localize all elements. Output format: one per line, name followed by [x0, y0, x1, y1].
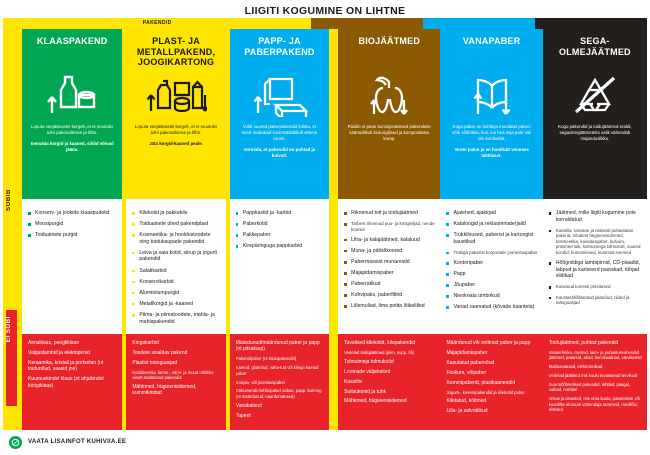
list-item: Kirepäringuga pappkarbid	[236, 243, 324, 250]
list-item: Mähkmed, hügieenisidemed, kummikindad	[132, 384, 220, 397]
list-item: Suurmõõtmelised pakendid, riihtlad, paag…	[549, 382, 642, 393]
column-title: VANAPABER	[446, 36, 536, 68]
list-item: Kohvipaks, paberfiltrid	[344, 292, 435, 299]
suitable-list-vanapaber: Ajalehed, ajakirjad Kataloogid ja reklaa…	[440, 199, 542, 334]
list-item: Lillemullad, ilma potita lõikelilled	[344, 303, 435, 310]
list-item: Riknenud toit ja toidujäätmed	[344, 210, 435, 217]
column-plast-metall: PLAST- JA METALLPAKEND, JOOGIKARTONG	[126, 29, 225, 430]
side-label-text: EI SOBI	[6, 316, 17, 342]
footer-link-text[interactable]: VAATA LISAINFOT KUHIVIIA.EE	[28, 439, 126, 445]
not-suitable-list-plast-metall: Kingakarbid Toodete sisaldav pakend Plas…	[126, 334, 225, 430]
list-item: Konservikarbid	[132, 279, 220, 286]
hero-papp-paber: PAPP- JA PABERPAKEND Voldi suured paberp…	[230, 29, 329, 199]
list-item: Majapidamispaber	[344, 270, 435, 277]
list-item: Kingakarbid	[132, 340, 220, 346]
open-book-icon	[446, 72, 536, 118]
list-item: Pabermassist munarestid	[344, 259, 435, 266]
hero-description: Loputa veejäänustel kergelt, et ei muutu…	[132, 124, 219, 147]
hero-plast-metall: PLAST- JA METALLPAKEND, JOOGIKARTONG	[126, 29, 225, 199]
suitable-list-plast-metall: Kilekotid ja pakkekile Toiduainete ühed …	[126, 199, 225, 334]
hero-description: Riiulile ei pane komisjonäärsed pakendei…	[344, 124, 434, 142]
hero-notch	[483, 194, 501, 199]
column-title: SEGA-OLMEJÄÄTMED	[549, 36, 641, 68]
items: Määrdunud või vettinud paber ja papp Maj…	[446, 340, 537, 415]
recycle-circle-logo	[9, 436, 22, 449]
list-item: Foolium, võipaber	[446, 370, 537, 376]
list-item: Kommipaberid, plastkaanendid	[446, 380, 537, 386]
column-vanapaber: VANAPABER Kogu paber on kohtleja mundate…	[440, 29, 542, 430]
list-item: Dokumendi-/arhiivipaber sabas, papp, kar…	[236, 388, 324, 399]
banner-filler	[311, 18, 647, 29]
hero-klaaspakend: KLAASPAKEND Loputa veejäänustel kergelt,…	[22, 29, 122, 199]
list-item: Määrdunud/määrdunud paber ja papp (nt pi…	[236, 340, 324, 353]
desc-line-1: Kogu pakendid ja toidujäätmed eraldi, se…	[551, 124, 639, 142]
column-title: PLAST- JA METALLPAKEND, JOOGIKARTONG	[132, 36, 219, 68]
apple-core-icon	[344, 72, 434, 118]
column-biojaatmed: BIOJÄÄTMED Riiulile ei pane komisjonäärs…	[338, 29, 440, 430]
list-item: Kaetud, glabritud, vaha-tud või kilega k…	[236, 365, 324, 376]
list-item: Paberkotid	[236, 221, 324, 228]
list-item: Piima- ja piimatoodete, mahla- ja mahlap…	[132, 312, 220, 325]
list-item: Paberrätikud	[344, 281, 435, 288]
column-title: PAPP- JA PABERPAKEND	[236, 36, 323, 68]
no-recycling-icon	[549, 72, 641, 118]
list-item: Plastist mänguasjad	[132, 360, 220, 366]
column-title: BIOJÄÄTMED	[344, 36, 434, 68]
list-item: Kontoripaber	[446, 260, 537, 267]
desc-line-1: Kogu paber on kohtleja mundatel paberi v…	[448, 124, 534, 142]
hero-description: Kogu pakendid ja toidujäätmed eraldi, se…	[549, 124, 641, 142]
packaging-banner-label: PAKENDID	[3, 18, 311, 29]
items: Kingakarbid Toodete sisaldav pakend Plas…	[132, 340, 220, 397]
list-item: Muna- ja pähklikoored	[344, 248, 435, 255]
list-item: Nieoknata ümbrikud	[446, 293, 537, 300]
list-item: Jäätmed, mille liigiti kogumine pole kor…	[549, 210, 642, 223]
list-item: Ahnat ja ainasted, mis oma kuulu, patare…	[549, 396, 642, 412]
list-item: Tolmuimeja tolmukotid	[344, 359, 435, 365]
list-item: Toidujäätmed, puhtad pakendid	[549, 340, 642, 346]
items: Määrdunud/määrdunud paber ja papp (nt pi…	[236, 340, 324, 419]
hero-description: Loputa veejäänustel kergelt, et ei muutu…	[28, 124, 116, 153]
list-item: Kassiliiv, rasvane ja raskesti puhastata…	[549, 228, 642, 256]
list-item: Kaustastikõllanatud jalanõud, riided ja …	[549, 295, 642, 306]
desc-line-1: Riiulile ei pane komisjonäärsed pakendei…	[346, 124, 432, 142]
list-item: Toiduainete purgid	[28, 232, 117, 239]
banner-paper	[423, 18, 535, 29]
column-klaaspakend: KLAASPAKEND Loputa veejäänustel kergelt,…	[22, 29, 122, 430]
list-item: Kasutatud pabernõud	[446, 360, 537, 366]
list-item: Kosmeetika- ja hooldustoodete ning toidu…	[132, 232, 220, 245]
list-item: Pakendipaber (nt toidupakendid)	[236, 356, 324, 361]
column-sega-olmejaatmed: SEGA-OLMEJÄÄTMED Kogu pakendid ja toiduj…	[543, 29, 647, 430]
category-columns: KLAASPAKEND Loputa veejäänustel kergelt,…	[3, 29, 647, 430]
list-item: Jõupaber	[446, 282, 537, 289]
list-item: Papp	[446, 271, 537, 278]
desc-line-2: Vormi palun ja en hoolikalt venoses laht…	[448, 147, 534, 159]
list-item: Keraamika, kristall ja portselan (nt toi…	[28, 360, 117, 373]
list-item: Kuivanud lumesti pritsitused	[549, 284, 642, 290]
list-item: Pappkastid ja -karbid	[236, 210, 324, 217]
hero-notch	[586, 194, 604, 199]
list-item: Kassiliiv	[344, 379, 435, 385]
suitable-list-sega-olmejaatmed: Jäätmed, mille liigiti kogumine pole kor…	[543, 199, 647, 334]
hero-notch	[167, 194, 185, 199]
list-item: Liha- ja kalajäätmed, kalaluud	[344, 237, 435, 244]
suitable-list-biojaatmed: Riknenud toit ja toidujäätmed Tarbest ri…	[338, 199, 440, 334]
list-item: Konserv- ja jookide klaaspudelid	[28, 210, 117, 217]
hero-notch	[380, 194, 398, 199]
list-item: Vanatehnika, ravimid, taim- ja puhastusv…	[549, 350, 642, 361]
plastic-metal-carton-icon	[132, 72, 219, 118]
list-item: Koopia- või joonistuspaber	[236, 380, 324, 385]
list-item: Määrdunud või vettinud paber ja papp	[446, 340, 537, 346]
not-suitable-list-vanapaber: Määrdunud või vettinud paber ja papp Maj…	[440, 334, 542, 430]
suitable-list-papp-paber: Pappkastid ja -karbid Paberkotid Pakkepa…	[230, 199, 329, 334]
footer: VAATA LISAINFOT KUHIVIIA.EE	[3, 432, 647, 452]
list-item: Lilla- ja salvrätikud	[446, 408, 537, 414]
list-item: Tapeet	[236, 413, 324, 419]
list-item: Alumiiniumpurgid	[132, 290, 220, 297]
list-item: Tavalised kilekotid, kilepakendid	[344, 340, 435, 346]
desc-line-2: Vormida, et pakendid on puhtad ja kuivad…	[238, 147, 321, 159]
list-item: Kodukeemia, lamm-, värvi- ja muud ohtlik…	[132, 370, 220, 381]
list-item: Leiva ja saia kotid, siirup ja jogurti p…	[132, 250, 220, 263]
list-item: Vedelad jäätmed mis kuulu tuvastanud ter…	[549, 373, 642, 378]
banner-bio	[311, 18, 423, 29]
hero-notch	[270, 194, 288, 199]
list-item: Vanakalend	[236, 403, 324, 409]
items: Jäätmed, mille liigiti kogumine pole kor…	[549, 210, 642, 306]
items: Tavalised kilekotid, kilepakendid Vedela…	[344, 340, 435, 405]
suitable-list-klaaspakend: Konserv- ja jookide klaaspudelid Moosipu…	[22, 199, 122, 334]
banner-row: PAKENDID	[3, 18, 647, 29]
list-item: Jogurti-, kreemipakendid ja kilekotid pa…	[446, 390, 537, 395]
not-suitable-list-sega-olmejaatmed: Toidujäätmed, puhtad pakendid Vanatehnik…	[543, 334, 647, 430]
list-item: Trükiga paberist korporatiiv joonestuspa…	[446, 250, 537, 256]
column-title: KLAASPAKEND	[28, 36, 116, 68]
infographic-frame: PAKENDID KLAASPAKEND Lopu	[3, 18, 647, 430]
list-item: Pakkepaber	[236, 232, 324, 239]
list-item: Tarbest riknenud puu- ja köögiviljad, ne…	[344, 221, 435, 232]
list-item: Toodete sisaldav pakend	[132, 350, 220, 356]
items: Ajalehed, ajakirjad Kataloogid ja reklaa…	[446, 210, 537, 311]
list-item: Trükkihiused, paberist ja kartongist kau…	[446, 232, 537, 245]
cardboard-box-icon	[236, 72, 323, 118]
items: Riknenud toit ja toidujäätmed Tarbest ri…	[344, 210, 435, 310]
side-label-eisobi: EI SOBI	[6, 310, 17, 406]
items: Toidujäätmed, puhtad pakendid Vanatehnik…	[549, 340, 642, 413]
hero-vanapaber: VANAPABER Kogu paber on kohtleja mundate…	[440, 29, 542, 199]
list-item: Suitsukonid ja tuhk	[344, 389, 435, 395]
list-item: Vanad raamatud (kõvade kaanteta)	[446, 304, 537, 311]
hero-notch	[63, 194, 81, 199]
list-item: Toiduainete ühed pakendplast	[132, 221, 220, 228]
list-item: Loomade väljaheited	[344, 369, 435, 375]
not-suitable-list-biojaatmed: Tavalised kilekotid, kilepakendid Vedela…	[338, 334, 440, 430]
not-suitable-list-papp-paber: Määrdunud/määrdunud paber ja papp (nt pi…	[230, 334, 329, 430]
list-item: Valguslambid ja elektripirnid	[28, 350, 117, 356]
list-item: Salatikarbid	[132, 268, 220, 275]
items: Pappkastid ja -karbid Paberkotid Pakkepa…	[236, 210, 324, 250]
banner-mixed	[535, 18, 647, 29]
list-item: Aknaklaas, peegliklaas	[28, 340, 117, 346]
desc-line-2: Jäta korgid-kaaned peale.	[134, 141, 217, 147]
list-item: Mahtuvatavad, elektroonikad	[549, 364, 642, 369]
glass-bottle-jar-icon	[28, 72, 116, 118]
not-suitable-list-klaaspakend: Aknaklaas, peegliklaas Valguslambid ja e…	[22, 334, 122, 430]
column-papp-paber: PAPP- JA PABERPAKEND Voldi suured paberp…	[230, 29, 329, 430]
list-item: Kiletatud, köitmed	[446, 398, 537, 404]
desc-line-1: Voldi suured paberpakendid kokku, et nee…	[238, 124, 321, 142]
list-item: Majapidamispaber	[446, 350, 537, 356]
desc-line-2: Eemalda korgid ja kaaned, sildid võivad …	[30, 141, 114, 153]
list-item: Ajalehed, ajakirjad	[446, 210, 537, 217]
list-item: Hõõgniidiga lambipirnid, CD-plaadid, lab…	[549, 260, 642, 280]
desc-line-1: Loputa veejäänustel kergelt, et ei muutu…	[134, 124, 217, 136]
list-item: Kilekotid ja pakkekile	[132, 210, 220, 217]
items: Kilekotid ja pakkekile Toiduainete ühed …	[132, 210, 220, 325]
side-label-text: SOBIB	[6, 189, 17, 211]
list-item: Kuumuskindel klaas (nt ahjukindel köögik…	[28, 376, 117, 389]
desc-line-1: Loputa veejäänustel kergelt, et ei muutu…	[30, 124, 114, 136]
hero-description: Voldi suured paberpakendid kokku, et nee…	[236, 124, 323, 159]
list-item: Mähkmed, hügieenisidemed	[344, 398, 435, 404]
hero-sega-olmejaatmed: SEGA-OLMEJÄÄTMED Kogu pakendid ja toiduj…	[543, 29, 647, 199]
list-item: Moosipurgid	[28, 221, 117, 228]
list-item: Vedelad toidujäätmed (piim, supp, õli)	[344, 350, 435, 355]
items: Aknaklaas, peegliklaas Valguslambid ja e…	[28, 340, 117, 389]
list-item: Kataloogid ja reklaammaterjalid	[446, 221, 537, 228]
hero-biojaatmed: BIOJÄÄTMED Riiulile ei pane komisjonäärs…	[338, 29, 440, 199]
list-item: Metallkorgid ja -kaaned	[132, 301, 220, 308]
hero-description: Kogu paber on kohtleja mundatel paberi v…	[446, 124, 536, 159]
items: Konserv- ja jookide klaaspudelid Moosipu…	[28, 210, 117, 239]
side-label-sobib: SOBIB	[6, 183, 17, 308]
